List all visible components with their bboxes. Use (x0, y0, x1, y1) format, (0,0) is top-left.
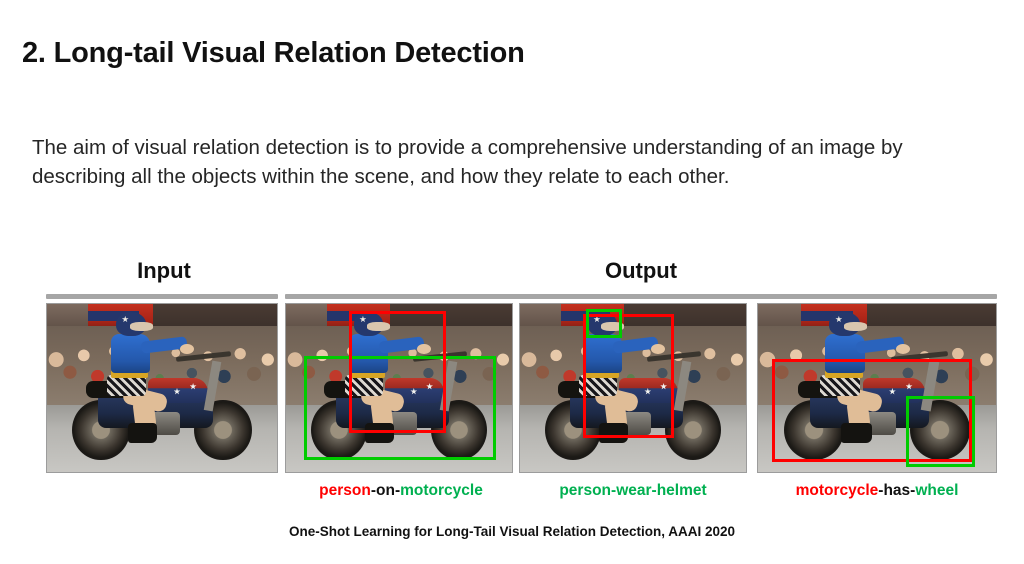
bounding-box-helmet (586, 309, 622, 338)
image-panel-motorcycle-has-wheel (757, 303, 997, 473)
divider-rule-input (46, 294, 278, 299)
relation-predicate: -wear- (611, 482, 657, 499)
section-header-output: Output (285, 258, 997, 284)
relation-subject: person (319, 482, 371, 499)
image-panel-row (46, 303, 997, 473)
relation-predicate: -on- (371, 482, 400, 499)
rider-torso (111, 334, 150, 373)
parade-photo (47, 304, 277, 472)
bounding-box-wheel (906, 396, 975, 467)
relation-object: helmet (657, 482, 707, 499)
section-header-input: Input (48, 258, 280, 284)
relation-object: wheel (915, 482, 958, 499)
divider-rule-output (285, 294, 997, 299)
paper-citation-caption: One-Shot Learning for Long-Tail Visual R… (0, 524, 1024, 539)
relation-label-person-on-motorcycle: person-on-motorcycle (285, 482, 517, 500)
rider-face (844, 322, 868, 330)
image-panel-input (46, 303, 278, 473)
rider-boot (128, 423, 158, 443)
relation-predicate: -has- (878, 482, 915, 499)
relation-label-motorcycle-has-wheel: motorcycle-has-wheel (757, 482, 997, 500)
relation-subject: person (559, 482, 611, 499)
relation-subject: motorcycle (796, 482, 879, 499)
rider-face (130, 322, 153, 330)
relation-label-person-wear-helmet: person-wear-helmet (519, 482, 747, 500)
image-panel-person-wear-helmet (519, 303, 747, 473)
body-paragraph: The aim of visual relation detection is … (32, 133, 982, 191)
relation-object: motorcycle (400, 482, 483, 499)
bounding-box-person (349, 311, 446, 434)
image-panel-person-on-motorcycle (285, 303, 513, 473)
page-title: 2. Long-tail Visual Relation Detection (22, 37, 525, 70)
